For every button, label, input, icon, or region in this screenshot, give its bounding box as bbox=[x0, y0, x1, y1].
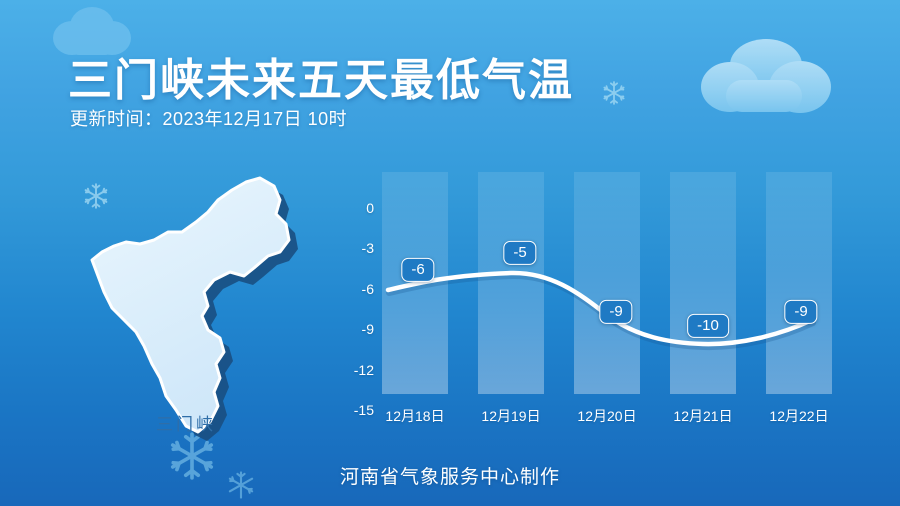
snowflake-header-icon bbox=[601, 80, 627, 106]
value-badge: -6 bbox=[401, 258, 434, 282]
page-title: 三门峡未来五天最低气温 bbox=[68, 44, 574, 108]
footer-credit: 河南省气象服务中心制作 bbox=[0, 462, 900, 489]
x-axis: 12月18日 12月19日 12月20日 12月21日 12月22日 bbox=[340, 400, 860, 430]
weather-infographic: 三门峡未来五天最低气温 更新时间：2023年12月17日 10时 三门峡 bbox=[0, 0, 900, 506]
value-badge: -9 bbox=[784, 300, 817, 324]
chart-line-layer bbox=[340, 165, 860, 430]
value-badge: -5 bbox=[503, 241, 536, 265]
x-tick-label: 12月19日 bbox=[466, 406, 556, 426]
map-region-label: 三门峡 bbox=[156, 410, 216, 435]
x-tick-label: 12月22日 bbox=[754, 406, 844, 426]
value-badge: -10 bbox=[687, 314, 729, 338]
x-tick-label: 12月18日 bbox=[370, 406, 460, 426]
value-badge: -9 bbox=[599, 300, 632, 324]
update-time: 更新时间：2023年12月17日 10时 bbox=[70, 105, 347, 131]
temperature-chart: 0 -3 -6 -9 -12 -15 -6 -5 -9 -10 -9 12月18… bbox=[340, 165, 860, 430]
x-tick-label: 12月21日 bbox=[658, 406, 748, 426]
region-map: 三门峡 bbox=[48, 160, 338, 450]
cloud-top-right-icon bbox=[700, 32, 835, 120]
x-tick-label: 12月20日 bbox=[562, 406, 652, 426]
